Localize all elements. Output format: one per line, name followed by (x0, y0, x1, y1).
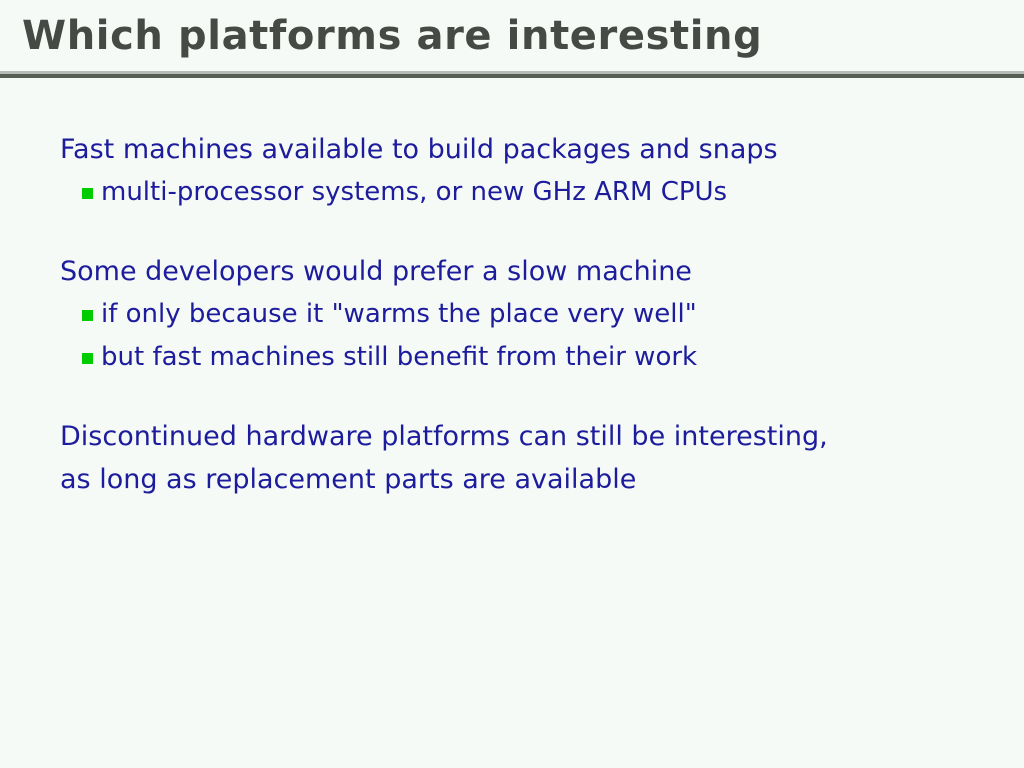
bullet-item: if only because it "warms the place very… (82, 293, 1024, 336)
lead-line: Some developers would prefer a slow mach… (60, 250, 1024, 293)
paragraph-line: Discontinued hardware platforms can stil… (60, 415, 1024, 458)
square-bullet-icon (82, 353, 93, 364)
bullet-item-label: if only because it "warms the place very… (101, 293, 697, 336)
bullet-item-label: but fast machines still benefit from the… (101, 336, 697, 379)
square-bullet-icon (82, 310, 93, 321)
title-divider-dark-rule (0, 74, 1024, 78)
lead-line: Fast machines available to build package… (60, 128, 1024, 171)
bullet-item-label: multi-processor systems, or new GHz ARM … (101, 171, 727, 214)
slide-body: Fast machines available to build package… (0, 128, 1024, 501)
slide-title: Which platforms are interesting (22, 12, 762, 60)
title-divider (0, 71, 1024, 79)
paragraph-line: as long as replacement parts are availab… (60, 458, 1024, 501)
bullet-item: but fast machines still benefit from the… (82, 336, 1024, 379)
bullet-item: multi-processor systems, or new GHz ARM … (82, 171, 1024, 214)
content-block-3: Discontinued hardware platforms can stil… (0, 415, 1024, 501)
content-block-1: Fast machines available to build package… (0, 128, 1024, 214)
square-bullet-icon (82, 188, 93, 199)
content-block-2: Some developers would prefer a slow mach… (0, 250, 1024, 379)
